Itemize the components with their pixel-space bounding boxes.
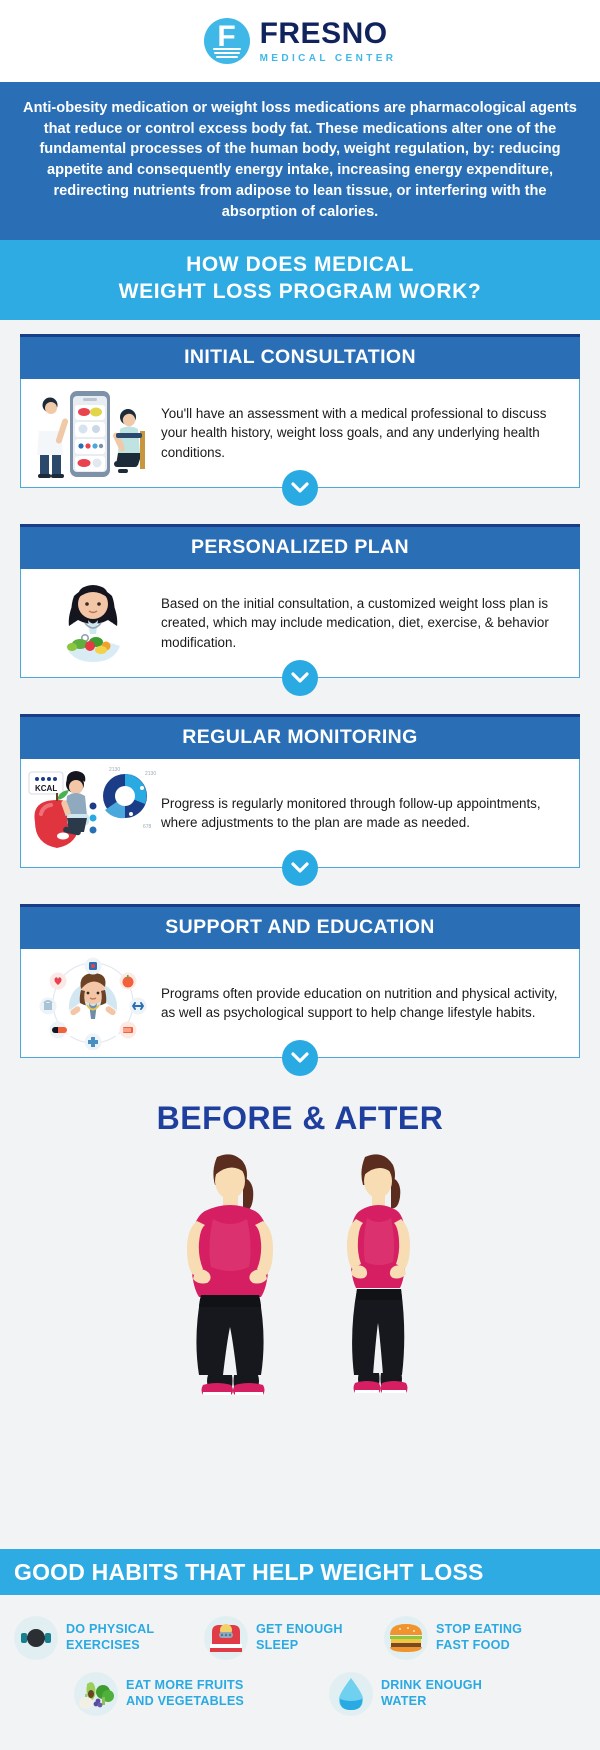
infographic-page: F FRESNO MEDICAL CENTER Anti-obesity med… xyxy=(0,0,600,1750)
habit-item-get-enough-sleep[interactable]: GET ENOUGH SLEEP xyxy=(204,1610,384,1666)
step-text: Progress is regularly monitored through … xyxy=(161,794,569,833)
dumbbell-icon xyxy=(14,1616,58,1660)
svg-text:678: 678 xyxy=(143,824,152,830)
logo-bar: F FRESNO MEDICAL CENTER xyxy=(0,0,600,82)
doctor-patient-phone-illustration-icon xyxy=(25,387,161,479)
step-text: Programs often provide education on nutr… xyxy=(161,984,569,1023)
habit-item-drink-enough-water[interactable]: DRINK ENOUGH WATER xyxy=(329,1666,529,1722)
step-title: INITIAL CONSULTATION xyxy=(20,334,580,379)
habit-item-stop-eating-fast-food[interactable]: STOP EATING FAST FOOD xyxy=(384,1610,574,1666)
chevron-down-icon xyxy=(282,850,318,886)
logo-wordmark: FRESNO MEDICAL CENTER xyxy=(260,19,397,64)
step-text: You'll have an assessment with a medical… xyxy=(161,404,569,462)
doctor-surrounded-by-health-icons-illustration-icon xyxy=(25,957,161,1049)
step-card: INITIAL CONSULTATION xyxy=(20,334,580,488)
step-title: REGULAR MONITORING xyxy=(20,714,580,759)
before-after-title: BEFORE & AFTER xyxy=(0,1100,600,1137)
habit-label: GET ENOUGH SLEEP xyxy=(256,1622,343,1653)
habit-item-do-physical-exercises[interactable]: DO PHYSICAL EXERCISES xyxy=(14,1610,204,1666)
banner-line-2: WEIGHT LOSS PROGRAM WORK? xyxy=(10,279,590,306)
woman-on-apple-with-kcal-donut-chart-illustration-icon: KCAL xyxy=(25,767,161,859)
chevron-down-icon xyxy=(282,660,318,696)
habit-item-eat-more-fruits-and-vegetables[interactable]: EAT MORE FRUITS AND VEGETABLES xyxy=(74,1666,329,1722)
banner-line-1: HOW DOES MEDICAL xyxy=(10,252,590,279)
intro-paragraph: Anti-obesity medication or weight loss m… xyxy=(0,82,600,240)
section-banner: HOW DOES MEDICAL WEIGHT LOSS PROGRAM WOR… xyxy=(0,240,600,320)
step-card: SUPPORT AND EDUCATION xyxy=(20,904,580,1058)
step-card: PERSONALIZED PLAN xyxy=(20,524,580,678)
habits-list: DO PHYSICAL EXERCISES xyxy=(0,1600,600,1722)
step-text: Based on the initial consultation, a cus… xyxy=(161,594,569,652)
habit-label: DO PHYSICAL EXERCISES xyxy=(66,1622,154,1653)
step-title: PERSONALIZED PLAN xyxy=(20,524,580,569)
sleeping-person-icon xyxy=(204,1616,248,1660)
habit-label: STOP EATING FAST FOOD xyxy=(436,1622,522,1653)
before-after-illustration xyxy=(0,1149,600,1399)
logo-mark-icon: F xyxy=(204,18,250,64)
habit-label: DRINK ENOUGH WATER xyxy=(381,1678,482,1709)
habits-row-2: EAT MORE FRUITS AND VEGETABLES DRINK ENO… xyxy=(74,1666,586,1722)
step-title: SUPPORT AND EDUCATION xyxy=(20,904,580,949)
vegetables-icon xyxy=(74,1672,118,1716)
chevron-down-icon xyxy=(282,470,318,506)
svg-text:KCAL: KCAL xyxy=(35,784,57,793)
after-woman-figure-icon xyxy=(309,1149,439,1399)
female-doctor-with-salad-bowl-illustration-icon xyxy=(25,577,161,669)
brand-name: FRESNO xyxy=(260,19,397,49)
burger-icon xyxy=(384,1616,428,1660)
step-card: REGULAR MONITORING KCAL xyxy=(20,714,580,868)
habits-row-1: DO PHYSICAL EXERCISES xyxy=(14,1610,586,1666)
chevron-down-icon xyxy=(282,1040,318,1076)
habits-banner: GOOD HABITS THAT HELP WEIGHT LOSS xyxy=(0,1549,600,1595)
steps-list: INITIAL CONSULTATION xyxy=(0,320,600,1058)
water-drop-icon xyxy=(329,1672,373,1716)
brand-subtitle: MEDICAL CENTER xyxy=(260,54,397,64)
svg-text:2130: 2130 xyxy=(109,767,120,773)
habit-label: EAT MORE FRUITS AND VEGETABLES xyxy=(126,1678,244,1709)
svg-text:2130: 2130 xyxy=(145,771,156,777)
before-woman-figure-icon xyxy=(161,1149,291,1399)
logo-waves-icon xyxy=(213,48,241,60)
brand-logo[interactable]: F FRESNO MEDICAL CENTER xyxy=(204,18,397,64)
